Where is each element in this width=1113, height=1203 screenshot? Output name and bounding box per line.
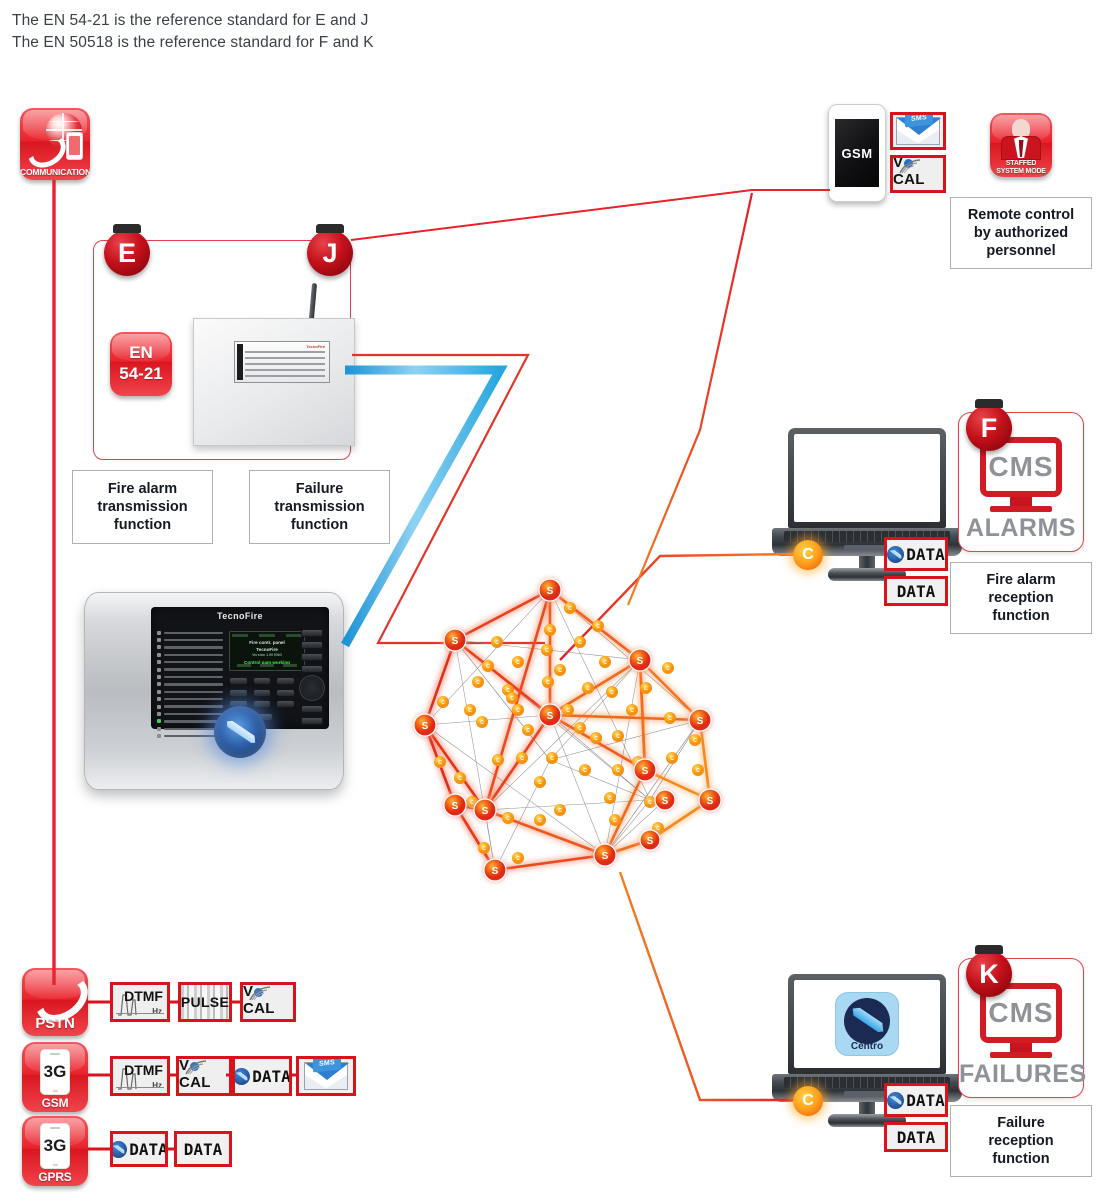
- fn-key-1[interactable]: [301, 629, 323, 637]
- laptop-lid: [788, 428, 946, 528]
- badge-data-plain-alarms: DATA: [884, 576, 948, 606]
- envelope-icon: SMS: [304, 1062, 348, 1090]
- fn-key-2[interactable]: [301, 641, 323, 649]
- svg-text:C: C: [630, 708, 634, 714]
- svg-text:C: C: [594, 736, 598, 742]
- caption-remote-control: Remote control by authorized personnel: [950, 197, 1092, 269]
- header-line-1: The EN 54-21 is the reference standard f…: [12, 10, 374, 32]
- badge-vocal-pstn: VCAL: [240, 982, 296, 1022]
- svg-text:C: C: [482, 846, 486, 852]
- svg-text:S: S: [707, 796, 714, 807]
- c-node-alarms: C: [793, 540, 823, 570]
- cms-caption-alarms: ALARMS: [959, 514, 1083, 543]
- badge-f-label: F: [981, 415, 998, 442]
- en-badge-line2: 54-21: [110, 363, 172, 384]
- data-logo-icon: [887, 546, 904, 563]
- pstn-label: PSTN: [22, 1015, 88, 1032]
- sound-wave-icon: [246, 986, 276, 1002]
- badge-e-label: E: [118, 240, 136, 267]
- panel-keypad[interactable]: [229, 677, 295, 708]
- svg-text:C: C: [578, 726, 582, 732]
- dtmf-label: DTMF: [124, 988, 163, 1004]
- c-node-failures: C: [793, 1086, 823, 1116]
- svg-text:C: C: [666, 666, 670, 672]
- staffed-system-mode-icon: STAFFED SYSTEM MODE: [990, 113, 1052, 177]
- svg-text:C: C: [656, 826, 660, 832]
- svg-text:C: C: [470, 800, 474, 806]
- svg-text:S: S: [602, 851, 609, 862]
- monitor-neck: [1010, 497, 1032, 506]
- data-label: DATA: [906, 545, 945, 564]
- badge-pulse-pstn: PULSE: [178, 982, 232, 1022]
- smartphone-3g-icon: 3G: [40, 1123, 70, 1169]
- svg-text:C: C: [441, 700, 445, 706]
- svg-text:C: C: [538, 818, 542, 824]
- smartphone-3g-icon: 3G: [40, 1049, 70, 1095]
- dtmf-label: DTMF: [124, 1062, 163, 1078]
- svg-text:S: S: [547, 586, 554, 597]
- gsm-path-label: GSM: [22, 1096, 88, 1110]
- svg-text:C: C: [603, 660, 607, 666]
- gprs-icon: 3G GPRS: [22, 1116, 88, 1186]
- svg-text:C: C: [566, 708, 570, 714]
- header-note: The EN 54-21 is the reference standard f…: [12, 10, 374, 54]
- svg-text:C: C: [583, 768, 587, 774]
- svg-text:C: C: [596, 624, 600, 630]
- svg-text:C: C: [696, 768, 700, 774]
- cms-caption-failures: FAILURES: [959, 1060, 1083, 1089]
- badge-data-logo-failures: DATA: [884, 1083, 948, 1117]
- fire-control-panel: TecnoFire Fire contr. pan: [84, 592, 344, 790]
- telephone-handset-icon: [29, 975, 81, 1009]
- centro-arrow-icon: [853, 1006, 884, 1035]
- key-5[interactable]: [253, 689, 272, 697]
- badge-dtmf-gsm: DTMF Hz: [110, 1056, 170, 1096]
- key-8[interactable]: [253, 700, 272, 708]
- fn-key-3[interactable]: [301, 653, 323, 661]
- gprs-path-label: GPRS: [22, 1170, 88, 1184]
- pstn-icon: PSTN: [22, 968, 88, 1036]
- key-3[interactable]: [276, 677, 295, 685]
- device-brand: TecnoFire: [306, 344, 325, 349]
- svg-text:C: C: [545, 648, 549, 654]
- svg-text:C: C: [616, 768, 620, 774]
- svg-text:C: C: [538, 780, 542, 786]
- gsm-icon: 3G GSM: [22, 1042, 88, 1112]
- badge-data-logo-gprs: DATA: [110, 1131, 168, 1167]
- header-line-2: The EN 50518 is the reference standard f…: [12, 32, 374, 54]
- svg-text:S: S: [452, 801, 459, 812]
- laptop-screen-centro: Centro: [794, 980, 940, 1068]
- centro-label: Centro: [851, 1041, 883, 1052]
- svg-text:C: C: [496, 758, 500, 764]
- hz-label: Hz: [152, 1007, 162, 1016]
- pulse-label: PULSE: [181, 994, 229, 1010]
- diagram-canvas: The EN 54-21 is the reference standard f…: [0, 0, 1113, 1203]
- badge-j: J: [307, 230, 353, 276]
- panel-led-column: [157, 629, 223, 740]
- communication-label: COMMUNICATION: [20, 167, 90, 177]
- smartphone-icon: [66, 132, 83, 160]
- svg-text:C: C: [458, 776, 462, 782]
- svg-text:C: C: [578, 640, 582, 646]
- enter-key[interactable]: [301, 705, 323, 713]
- centro-app-icon[interactable]: Centro: [835, 992, 899, 1056]
- svg-text:S: S: [637, 656, 644, 667]
- svg-text:C: C: [476, 680, 480, 686]
- svg-text:C: C: [548, 628, 552, 634]
- hz-label: Hz: [152, 1081, 162, 1090]
- svg-text:S: S: [647, 836, 654, 847]
- svg-text:C: C: [546, 680, 550, 686]
- sound-wave-icon: [896, 159, 926, 175]
- svg-text:C: C: [468, 708, 472, 714]
- svg-text:S: S: [547, 711, 554, 722]
- badge-sms: SMS: [890, 112, 946, 150]
- data-logo-icon: [233, 1068, 250, 1085]
- panel-brand: TecnoFire: [217, 611, 263, 621]
- envelope-icon: SMS: [896, 117, 940, 145]
- svg-text:S: S: [697, 716, 704, 727]
- caption-fire-alarm-reception: Fire alarm reception function: [950, 562, 1092, 634]
- monitor-neck: [1010, 1043, 1032, 1052]
- monitor-stand: [990, 1052, 1052, 1058]
- badge-data-gsm: DATA: [232, 1056, 292, 1096]
- svg-text:C: C: [648, 800, 652, 806]
- c-node-label: C: [802, 1092, 814, 1110]
- svg-text:C: C: [693, 738, 697, 744]
- svg-text:C: C: [613, 818, 617, 824]
- svg-text:C: C: [520, 756, 524, 762]
- key-2[interactable]: [253, 677, 272, 685]
- caption-failure-transmission: Failure transmission function: [249, 470, 390, 544]
- cms-text-alarms: CMS: [988, 451, 1053, 483]
- gsm-label: GSM: [841, 146, 872, 161]
- badge-sms-gsm: SMS: [296, 1056, 356, 1096]
- svg-text:C: C: [526, 728, 530, 734]
- svg-text:C: C: [516, 856, 520, 862]
- caption-fire-alarm-transmission: Fire alarm transmission function: [72, 470, 213, 544]
- device-label: TecnoFire: [234, 341, 330, 383]
- panel-lower-keys[interactable]: [301, 705, 323, 725]
- panel-dpad[interactable]: [299, 675, 325, 701]
- laptop-screen-blank: [794, 434, 940, 522]
- person-icon: [999, 119, 1043, 159]
- svg-text:C: C: [586, 686, 590, 692]
- data-label: DATA: [252, 1067, 291, 1086]
- svg-text:C: C: [550, 756, 554, 762]
- data-label: DATA: [906, 1091, 945, 1110]
- svg-text:C: C: [558, 668, 562, 674]
- svg-text:C: C: [438, 760, 442, 766]
- staffed-line1: STAFFED: [990, 160, 1052, 168]
- svg-text:C: C: [506, 816, 510, 822]
- badge-cap: [316, 224, 344, 233]
- data-logo-icon: [110, 1141, 127, 1158]
- key-1[interactable]: [229, 677, 248, 685]
- badge-cap: [975, 399, 1003, 408]
- svg-text:C: C: [608, 796, 612, 802]
- badge-e: E: [104, 230, 150, 276]
- en-badge-line1: EN: [110, 342, 172, 363]
- label-sidebar: [237, 344, 243, 380]
- lcd-title: Fire contr. panel: [230, 640, 304, 645]
- telephone-handset-icon: [27, 136, 57, 158]
- svg-text:C: C: [644, 686, 648, 692]
- badge-j-label: J: [322, 240, 337, 267]
- badge-k: K: [966, 951, 1012, 997]
- badge-data-plain-gprs: DATA: [174, 1131, 232, 1167]
- caption-failure-reception: Failure reception function: [950, 1105, 1092, 1177]
- badge-data-logo-alarms: DATA: [884, 537, 948, 571]
- badge-k-label: K: [979, 961, 999, 988]
- gsm-smartphone: GSM: [828, 104, 886, 202]
- data-logo-icon: [887, 1092, 904, 1109]
- key-4[interactable]: [229, 689, 248, 697]
- badge-cap: [975, 945, 1003, 954]
- network-mesh: CCC CCC CCC CCC CCC CCC CCC CCC CCC CCC …: [400, 570, 730, 900]
- cms-text-failures: CMS: [988, 997, 1053, 1029]
- key-9[interactable]: [276, 700, 295, 708]
- data-label: DATA: [897, 1128, 936, 1147]
- data-label: DATA: [129, 1140, 168, 1159]
- fn-key-4[interactable]: [301, 665, 323, 673]
- data-label: DATA: [184, 1140, 223, 1159]
- gsm-3g-label: 3G: [44, 1062, 67, 1082]
- svg-text:C: C: [506, 688, 510, 694]
- svg-text:C: C: [480, 720, 484, 726]
- lcd-version: Version 1.00 ENG: [230, 653, 304, 657]
- badge-vocal-gsm: VCAL: [176, 1056, 232, 1096]
- sound-wave-icon: [182, 1060, 212, 1076]
- svg-text:C: C: [516, 708, 520, 714]
- panel-lcd: Fire contr. panel TecnoFire Version 1.00…: [229, 631, 305, 671]
- svg-text:C: C: [668, 716, 672, 722]
- en-54-21-badge: EN 54-21: [110, 332, 172, 396]
- svg-text:C: C: [616, 734, 620, 740]
- svg-text:S: S: [662, 796, 669, 807]
- monitor-stand: [990, 506, 1052, 512]
- svg-text:C: C: [495, 640, 499, 646]
- reset-key[interactable]: [301, 717, 323, 725]
- badge-data-plain-failures: DATA: [884, 1122, 948, 1152]
- svg-text:S: S: [492, 866, 499, 877]
- badge-vocal-gsm-phone: VCAL: [890, 155, 946, 193]
- laptop-lid: Centro: [788, 974, 946, 1074]
- svg-text:C: C: [486, 664, 490, 670]
- svg-text:S: S: [482, 806, 489, 817]
- gprs-3g-label: 3G: [44, 1136, 67, 1156]
- data-label: DATA: [897, 582, 936, 601]
- badge-dtmf-pstn: DTMF Hz: [110, 982, 170, 1022]
- client-nodes: CCC CCC CCC CCC CCC CCC CCC CCC CCC CCC …: [434, 602, 704, 864]
- svg-text:C: C: [558, 808, 562, 814]
- lcd-brand: TecnoFire: [230, 647, 304, 652]
- panel-function-keys[interactable]: [301, 629, 323, 673]
- badge-cap: [113, 224, 141, 233]
- svg-text:C: C: [516, 660, 520, 666]
- alarm-transmission-device: TecnoFire: [193, 318, 355, 446]
- svg-text:S: S: [642, 766, 649, 777]
- svg-text:C: C: [670, 756, 674, 762]
- badge-f: F: [966, 405, 1012, 451]
- svg-text:C: C: [568, 606, 572, 612]
- c-node-label: C: [802, 546, 814, 564]
- svg-text:C: C: [510, 696, 514, 702]
- panel-logo-button[interactable]: [214, 706, 266, 758]
- key-6[interactable]: [276, 689, 295, 697]
- svg-text:S: S: [422, 721, 429, 732]
- phone-screen: GSM: [835, 119, 879, 187]
- staffed-line2: SYSTEM MODE: [990, 168, 1052, 176]
- svg-text:C: C: [610, 690, 614, 696]
- svg-text:S: S: [452, 636, 459, 647]
- communication-icon: COMMUNICATION: [20, 108, 90, 180]
